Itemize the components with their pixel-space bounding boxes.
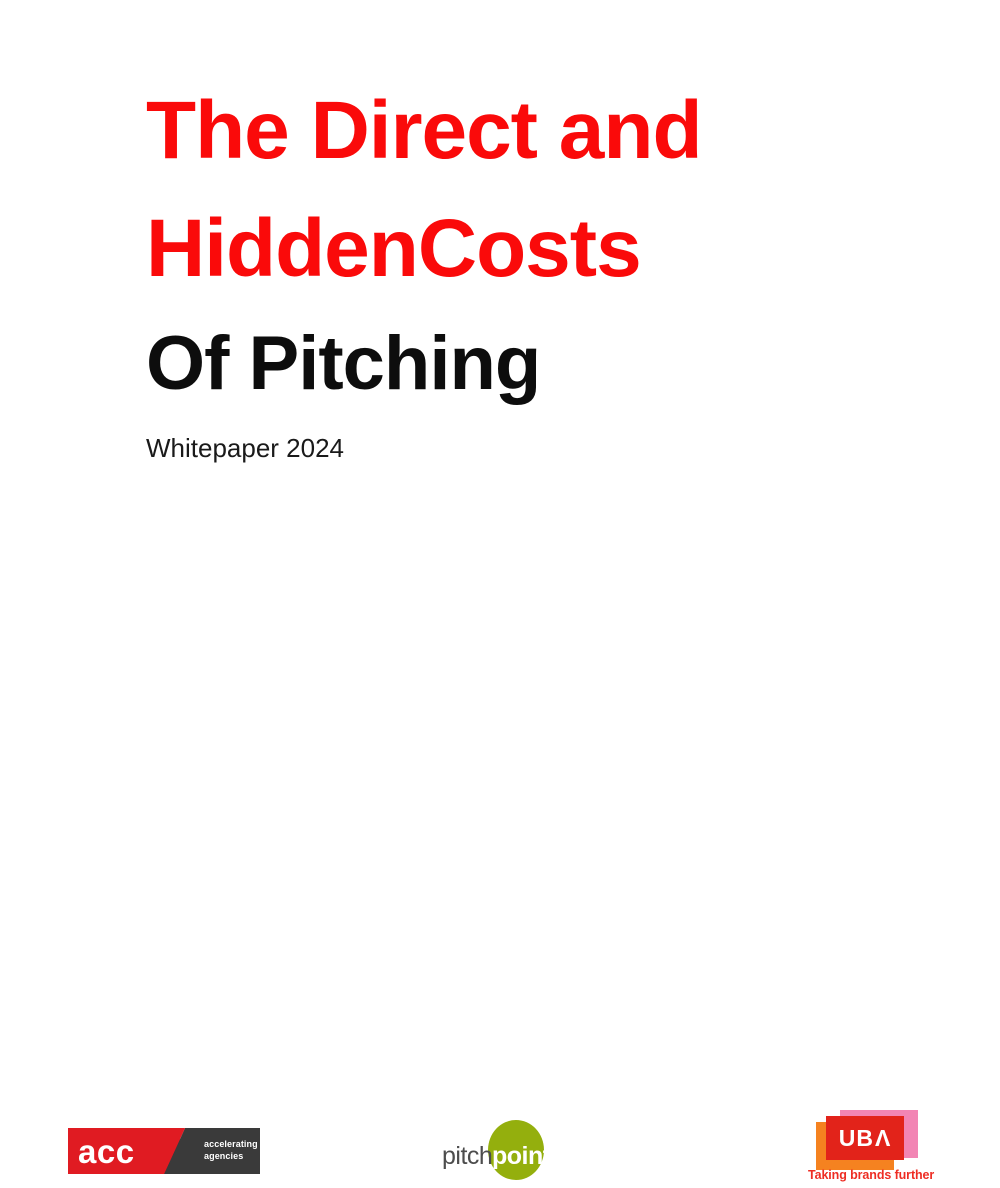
title-line-1: The Direct and <box>146 72 946 190</box>
uba-logo-chevron-icon: Λ <box>875 1126 891 1151</box>
title-line-3: Of Pitching <box>146 308 946 420</box>
acc-logo-wordmark: acc <box>78 1133 135 1170</box>
uba-logo-tagline: Taking brands further <box>808 1168 933 1183</box>
acc-logo-tagline-line2: agencies <box>204 1151 258 1163</box>
pitchpoint-wordmark-point: point <box>492 1142 551 1170</box>
uba-logo: UB Λ Taking brands further <box>808 1110 933 1188</box>
uba-logo-mark: UB Λ <box>826 1116 904 1160</box>
pitchpoint-logo: pitch point <box>440 1120 562 1180</box>
title-line-2: HiddenCosts <box>146 190 946 308</box>
uba-logo-wordmark: UB <box>839 1126 874 1151</box>
title-block: The Direct and HiddenCosts Of Pitching W… <box>146 72 946 464</box>
logo-row: acc accelerating agencies pitch point UB… <box>0 548 1000 658</box>
acc-logo: acc accelerating agencies <box>68 1128 260 1174</box>
pitchpoint-wordmark-pitch: pitch <box>442 1142 492 1170</box>
subtitle-whitepaper-year: Whitepaper 2024 <box>146 420 946 464</box>
acc-logo-tagline-line1: accelerating <box>204 1139 258 1151</box>
acc-logo-tagline: accelerating agencies <box>204 1139 258 1162</box>
whitepaper-cover-slide: The Direct and HiddenCosts Of Pitching W… <box>0 0 1000 667</box>
